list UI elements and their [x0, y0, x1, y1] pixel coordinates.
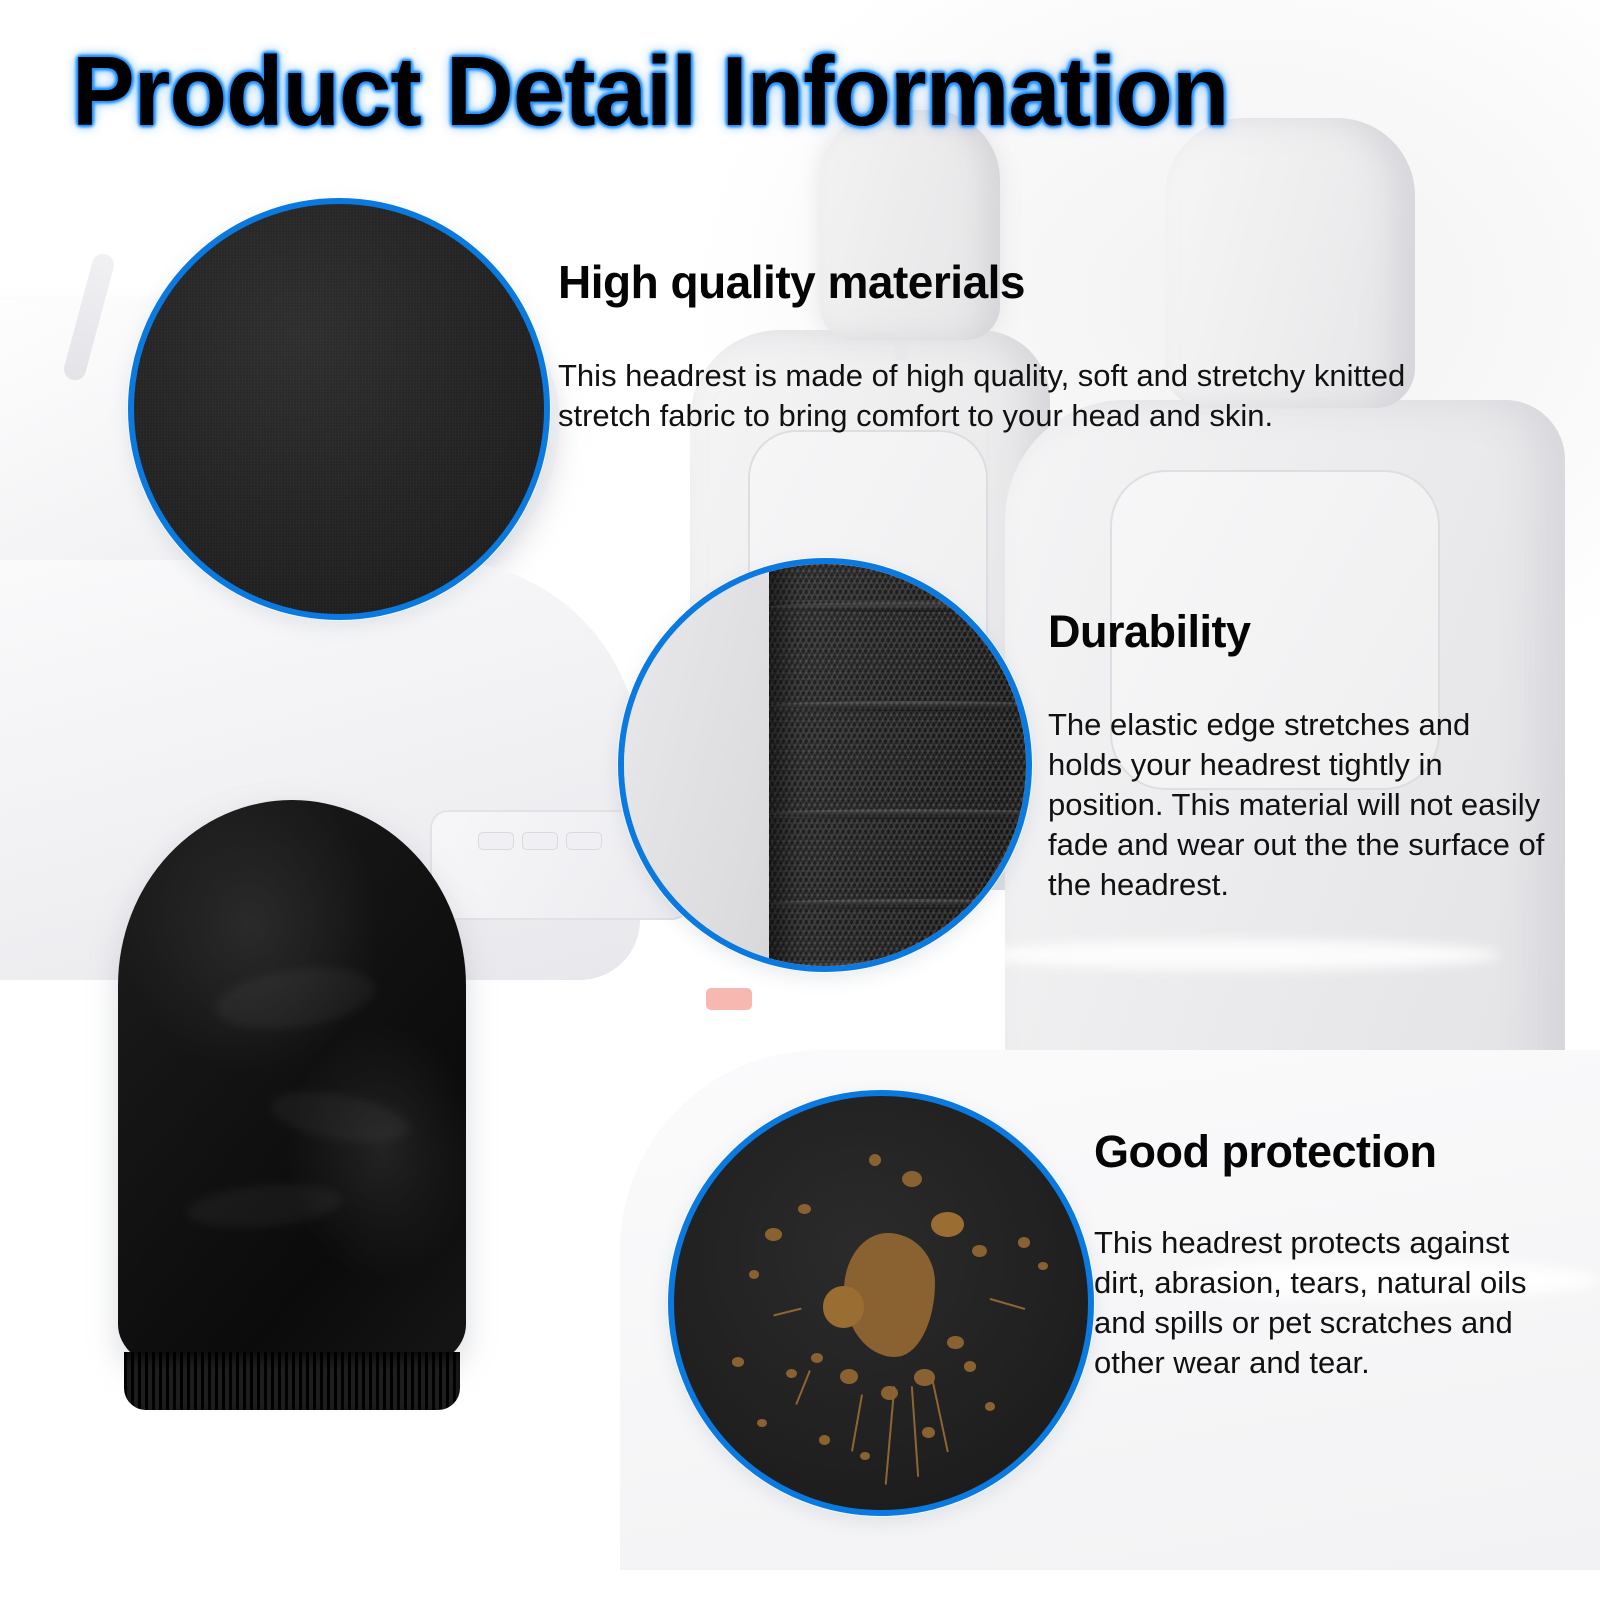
- product-photo-headrest-cover: [118, 800, 466, 1410]
- callout-image-high-quality-materials: [128, 198, 550, 620]
- feature-heading: Durability: [1048, 608, 1548, 655]
- headrest-cover-elastic-band: [124, 1352, 460, 1410]
- callout-image-good-protection: [668, 1090, 1094, 1516]
- knitted-elastic-edge-texture: [769, 558, 1032, 972]
- fabric-weave-texture: [134, 204, 544, 614]
- console-key: [566, 832, 602, 850]
- feature-block-good-protection: Good protection This headrest protects a…: [1094, 1128, 1564, 1383]
- feature-block-durability: Durability The elastic edge stretches an…: [1048, 608, 1548, 905]
- console-key: [522, 832, 558, 850]
- feature-body: The elastic edge stretches and holds you…: [1048, 705, 1548, 905]
- feature-body: This headrest is made of high quality, s…: [558, 356, 1458, 436]
- page-title: Product Detail Information: [72, 42, 1228, 140]
- feature-heading: Good protection: [1094, 1128, 1564, 1175]
- feature-heading: High quality materials: [558, 258, 1458, 306]
- feature-block-high-quality-materials: High quality materials This headrest is …: [558, 258, 1458, 436]
- console-key: [478, 832, 514, 850]
- headrest-cover-body: [118, 800, 466, 1368]
- infographic-canvas: Product Detail Information: [0, 0, 1600, 1600]
- feature-body: This headrest protects against dirt, abr…: [1094, 1223, 1564, 1383]
- seatbelt-chip: [706, 988, 752, 1010]
- callout-image-durability: [618, 558, 1032, 972]
